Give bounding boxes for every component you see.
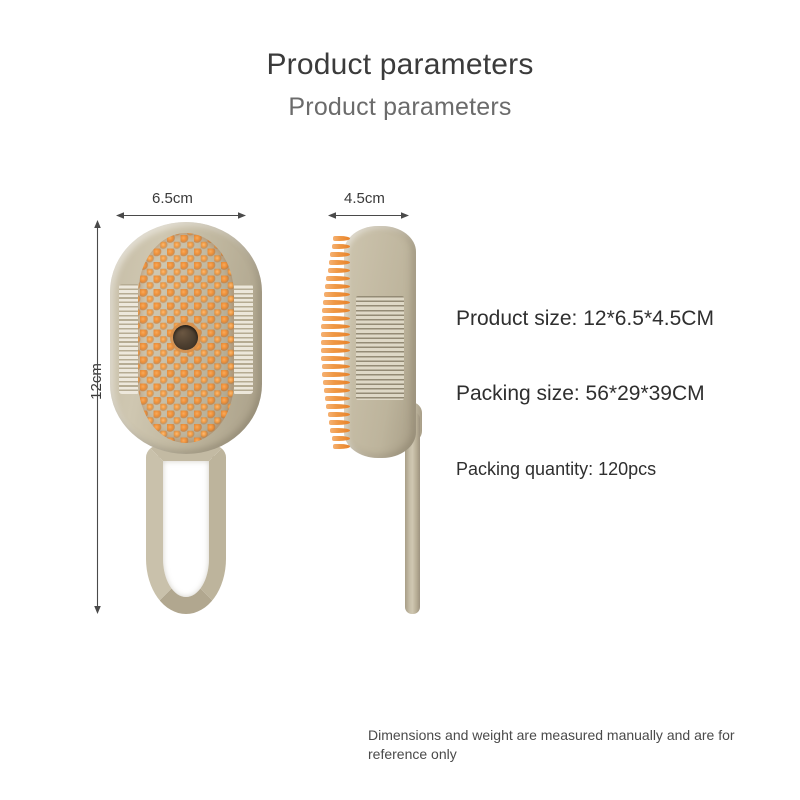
product-parameters-page: Product parameters Product parameters 6.… (0, 0, 800, 800)
bristle (333, 236, 350, 241)
page-subtitle: Product parameters (0, 93, 800, 122)
bristle (328, 412, 351, 417)
bristle (321, 348, 350, 353)
bristle (322, 372, 350, 377)
bristle (323, 380, 350, 385)
spec-packing-size: Packing size: 56*29*39CM (456, 382, 705, 406)
bristle (321, 324, 350, 329)
bristle (328, 268, 351, 273)
bristle (330, 428, 350, 433)
bristle (330, 252, 350, 257)
bristle (333, 444, 350, 449)
bristle (325, 396, 350, 401)
silicone-massage-pad (138, 233, 234, 443)
bristle (329, 420, 350, 425)
dimension-label-side-width: 4.5cm (344, 190, 385, 207)
bristle (321, 332, 350, 337)
bristle (324, 292, 350, 297)
brush-head-body (110, 222, 262, 454)
bristle (323, 300, 350, 305)
bristle (326, 276, 350, 281)
dimension-arrow-side-width (328, 210, 409, 221)
dimension-arrow-front-height (91, 220, 104, 614)
product-front-view (110, 222, 262, 614)
bristle (322, 308, 350, 313)
bristle (322, 364, 350, 369)
spec-packing-quantity: Packing quantity: 120pcs (456, 459, 656, 480)
dimension-label-front-width: 6.5cm (152, 190, 193, 207)
product-side-view (312, 226, 462, 616)
bristle (322, 316, 350, 321)
bristle (326, 404, 350, 409)
bristle (321, 356, 350, 361)
disclaimer-note: Dimensions and weight are measured manua… (368, 726, 778, 764)
comb-teeth-right (234, 284, 253, 394)
bristle (329, 260, 350, 265)
dimension-arrow-front-width (116, 210, 246, 221)
bristle (321, 340, 350, 345)
bristle (325, 284, 350, 289)
side-comb-ridges (356, 296, 404, 400)
steam-nozzle-hole (173, 325, 198, 350)
bristle (332, 244, 350, 249)
side-bristles (320, 236, 350, 452)
bristle (332, 436, 350, 441)
comb-teeth-left (119, 284, 138, 394)
brush-handle-loop (146, 444, 226, 614)
bristle (324, 388, 350, 393)
page-title: Product parameters (0, 48, 800, 82)
spec-product-size: Product size: 12*6.5*4.5CM (456, 307, 714, 331)
